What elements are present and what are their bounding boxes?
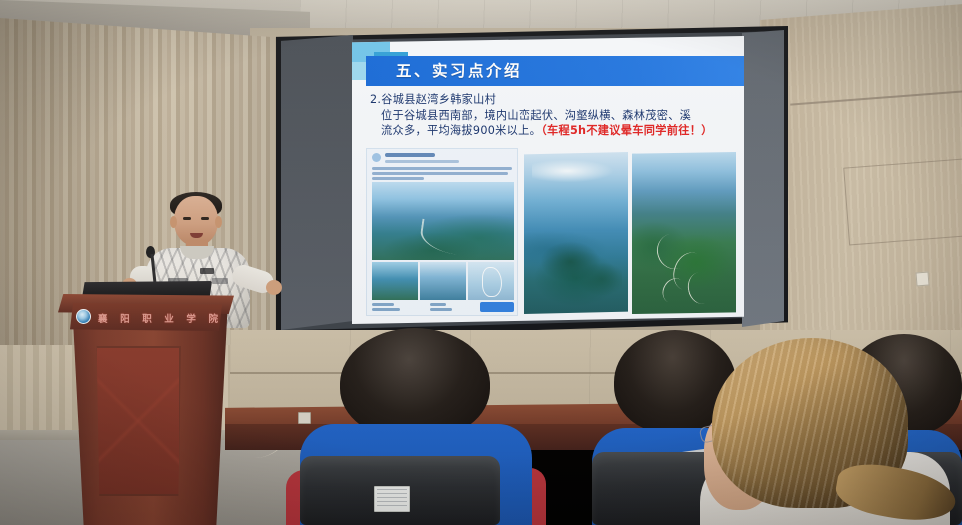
chair-label-tag <box>374 486 410 512</box>
post-hero-image <box>372 182 514 260</box>
slide-heading: 2.谷城县赵湾乡韩家山村 <box>370 92 734 108</box>
post-thumbnail-strip <box>372 262 514 300</box>
post-footer-line <box>372 308 400 311</box>
post-text-line-1 <box>372 167 512 170</box>
post-username <box>385 153 435 157</box>
social-post-header <box>372 152 512 178</box>
post-footer-line <box>430 308 452 311</box>
institution-char: 职 <box>142 311 152 325</box>
post-thumbnail <box>468 262 514 300</box>
shirt-pocket-detail <box>200 268 214 274</box>
presenter-ear <box>215 216 222 228</box>
slide-red-note: （车程5h不建议晕车同学前往！） <box>541 124 713 137</box>
presentation-slide[interactable]: 五、实习点介绍 2.谷城县赵湾乡韩家山村 位于谷城县西南部，境内山峦起伏、沟壑纵… <box>352 36 744 324</box>
slide-body: 2.谷城县赵湾乡韩家山村 位于谷城县西南部，境内山峦起伏、沟壑纵横、森林茂密、溪… <box>370 92 734 139</box>
institution-char: 阳 <box>120 311 130 325</box>
post-thumbnail <box>420 262 466 300</box>
presenter-head <box>174 196 218 246</box>
podium-front-panel <box>95 346 181 496</box>
post-footer-line <box>372 303 394 306</box>
institution-char: 襄 <box>98 311 108 325</box>
display-letterbox-left <box>281 32 353 330</box>
slide-title: 五、实习点介绍 <box>396 58 696 84</box>
post-footer-line <box>430 303 446 306</box>
post-action-button[interactable] <box>480 302 514 312</box>
institution-char: 院 <box>208 311 218 325</box>
lecture-hall-scene: 五、实习点介绍 2.谷城县赵湾乡韩家山村 位于谷城县西南部，境内山峦起伏、沟壑纵… <box>0 0 962 525</box>
social-post-card <box>366 148 518 316</box>
slide-body-line-2-text: 流众多，平均海拔900米以上。 <box>381 124 541 137</box>
institution-name: 襄 阳 职 业 学 院 <box>98 310 218 326</box>
mountain-range-photo <box>524 152 628 314</box>
right-wall-access-panel <box>843 159 962 246</box>
institution-logo-icon <box>76 309 91 324</box>
presenter-ear <box>170 216 177 228</box>
presenter-right-hand <box>266 280 282 295</box>
shirt-graphic <box>212 278 228 284</box>
road-line <box>418 218 487 258</box>
chair-label-lines <box>377 489 407 509</box>
slide-body-line-2: 流众多，平均海拔900米以上。（车程5h不建议晕车同学前往！） <box>370 123 734 139</box>
presenter-eye <box>201 217 209 220</box>
chair[interactable] <box>300 456 500 525</box>
wall-outlet-icon <box>915 272 929 287</box>
post-text-line-3 <box>372 177 424 180</box>
institution-char: 学 <box>186 311 196 325</box>
avatar <box>372 153 381 162</box>
post-text-line-2 <box>372 172 508 175</box>
post-footer <box>372 303 514 315</box>
display-letterbox-right <box>742 30 784 330</box>
post-subtitle <box>385 160 459 163</box>
desk-power-outlet-icon <box>298 412 311 424</box>
post-thumbnail <box>372 262 418 300</box>
slide-body-line-1: 位于谷城县西南部，境内山峦起伏、沟壑纵横、森林茂密、溪 <box>370 108 734 124</box>
winding-road-photo <box>632 152 736 314</box>
institution-char: 业 <box>164 311 174 325</box>
presenter-eye <box>183 217 191 220</box>
